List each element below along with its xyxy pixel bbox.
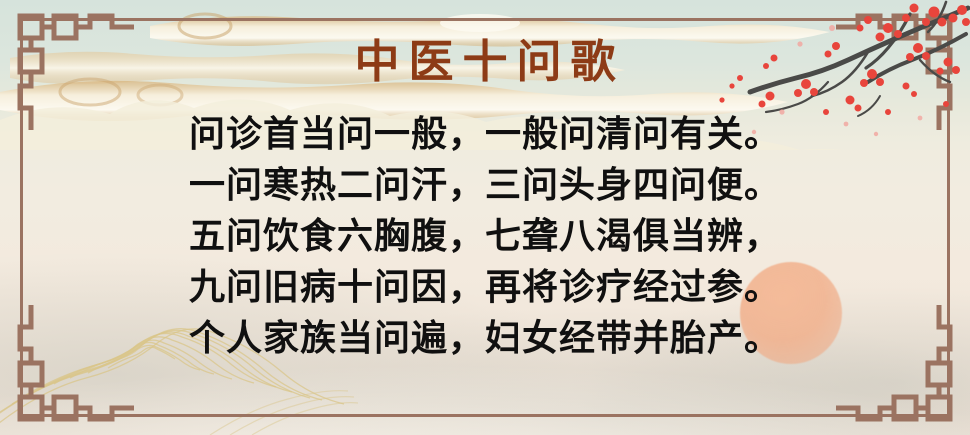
verse-line-2: 一问寒热二问汗，三问头身四问便。 — [0, 160, 970, 211]
verse-line-5: 个人家族当问遍，妇女经带并胎产。 — [0, 313, 970, 364]
verse-line-1: 问诊首当问一般，一般问清问有关。 — [0, 109, 970, 160]
frame-rule-bottom — [20, 414, 950, 417]
verse-line-3: 五问饮食六胸腹，七聋八渴俱当辨， — [0, 211, 970, 262]
page-title: 中医十问歌 — [0, 0, 970, 87]
poster-canvas: 中医十问歌 问诊首当问一般，一般问清问有关。 一问寒热二问汗，三问头身四问便。 … — [0, 0, 970, 435]
verse-block: 问诊首当问一般，一般问清问有关。 一问寒热二问汗，三问头身四问便。 五问饮食六胸… — [0, 87, 970, 364]
verse-line-4: 九问旧病十问因，再将诊疗经过参。 — [0, 262, 970, 313]
poster-content: 中医十问歌 问诊首当问一般，一般问清问有关。 一问寒热二问汗，三问头身四问便。 … — [0, 0, 970, 364]
